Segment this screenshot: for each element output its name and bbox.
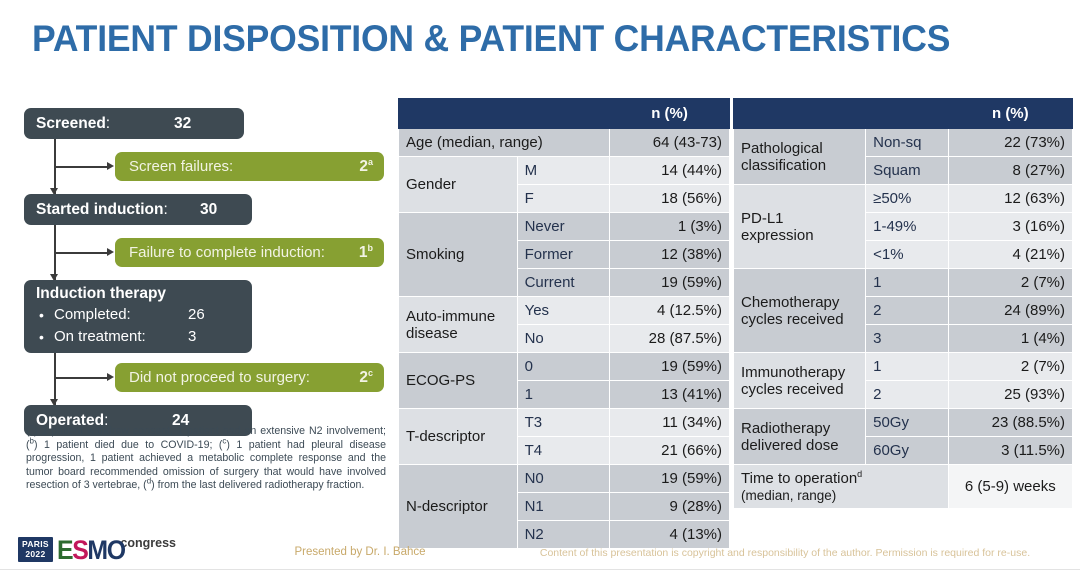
patient-characteristics-table-right: n (%) Pathological classificationNon-sq2…: [733, 98, 1073, 509]
flow-screen-failures-note: a: [368, 156, 373, 166]
row-value: 8 (27%): [948, 157, 1072, 185]
left-table-header-row: n (%): [399, 99, 730, 129]
row-subcategory: 1-49%: [866, 213, 949, 241]
row-value: 12 (63%): [948, 185, 1072, 213]
row-value: 4 (12.5%): [610, 297, 730, 325]
row-subcategory: Former: [517, 241, 609, 269]
row-subcategory: T4: [517, 437, 609, 465]
row-subcategory: N0: [517, 465, 609, 493]
row-category: PD-L1 expression: [734, 185, 866, 269]
row-value: 24 (89%): [948, 297, 1072, 325]
table-row: Chemotherapy cycles received12 (7%): [734, 269, 1073, 297]
row-category: Age (median, range): [399, 129, 610, 157]
flow-started-sep: :: [163, 201, 167, 218]
table-row: Time to operationd(median, range)6 (5-9)…: [734, 465, 1073, 509]
flow-induction-ontreatment-value: 3: [188, 326, 196, 348]
row-value: 25 (93%): [948, 381, 1072, 409]
logo-congress-text: congress: [120, 536, 176, 550]
flow-screened-label: Screened: [36, 115, 106, 132]
flow-failure-induction-label: Failure to complete induction:: [129, 244, 325, 261]
row-subcategory: 50Gy: [866, 409, 949, 437]
row-category: ECOG-PS: [399, 353, 518, 409]
row-subcategory: N1: [517, 493, 609, 521]
flow-screened-sep: :: [106, 115, 110, 132]
right-table-head: n (%): [734, 99, 1073, 129]
table-row: T-descriptorT311 (34%): [399, 409, 730, 437]
table-row: N-descriptorN019 (59%): [399, 465, 730, 493]
row-subcategory: Squam: [866, 157, 949, 185]
esmo-wordmark: ESMO: [57, 538, 125, 562]
row-value: 12 (38%): [610, 241, 730, 269]
esmo-letter-m: M: [87, 535, 106, 565]
row-value: 22 (73%): [948, 129, 1072, 157]
row-value: 19 (59%): [610, 353, 730, 381]
flow-screen-failures-label: Screen failures:: [129, 158, 233, 175]
table-row: Pathological classificationNon-sq22 (73%…: [734, 129, 1073, 157]
right-table-body: Pathological classificationNon-sq22 (73%…: [734, 129, 1073, 509]
row-subcategory: 2: [866, 297, 949, 325]
row-value: 64 (43-73): [610, 129, 730, 157]
table-row: GenderM14 (44%): [399, 157, 730, 185]
presented-by-text: Presented by Dr. I. Bahce: [215, 546, 505, 558]
flow-box-did-not-proceed: Did not proceed to surgery: 2c: [115, 363, 384, 392]
left-table-head: n (%): [399, 99, 730, 129]
row-value: 9 (28%): [610, 493, 730, 521]
connector-branch-3: [54, 377, 108, 379]
flow-not-surgery-label: Did not proceed to surgery:: [129, 369, 310, 386]
row-subcategory: 1: [517, 381, 609, 409]
esmo-letter-e: E: [57, 535, 72, 565]
right-table-header-row: n (%): [734, 99, 1073, 129]
flow-induction-completed-label: Completed:: [54, 306, 131, 323]
row-category: Pathological classification: [734, 129, 866, 185]
table-row: Age (median, range)64 (43-73): [399, 129, 730, 157]
row-subcategory: 2: [866, 381, 949, 409]
flow-failure-induction-note: b: [368, 242, 374, 252]
flow-box-failure-induction: Failure to complete induction: 1b: [115, 238, 384, 267]
left-header-blank: [399, 99, 610, 129]
row-subcategory: Non-sq: [866, 129, 949, 157]
row-value: 28 (87.5%): [610, 325, 730, 353]
row-subcategory: N2: [517, 521, 609, 549]
row-value: 2 (7%): [948, 269, 1072, 297]
row-subcategory: Current: [517, 269, 609, 297]
flow-screen-failures-value: 2: [359, 158, 368, 175]
left-header-npct: n (%): [610, 99, 730, 129]
flow-not-surgery-value: 2: [359, 369, 368, 386]
row-subcategory: Never: [517, 213, 609, 241]
footnotes-text: (a) 1 patient withdrew consent, 1 patien…: [26, 425, 386, 493]
flow-screened-value: 32: [174, 115, 191, 133]
row-value: 6 (5-9) weeks: [948, 465, 1072, 509]
flow-not-surgery-note: c: [368, 367, 373, 377]
connector-branch-1: [54, 166, 108, 168]
connector-branch-2: [54, 252, 108, 254]
logo-year: 2022: [22, 550, 49, 560]
row-category: Immunotherapy cycles received: [734, 353, 866, 409]
patient-characteristics-table-left: n (%) Age (median, range)64 (43-73)Gende…: [398, 98, 730, 549]
row-value: 4 (21%): [948, 241, 1072, 269]
row-value: 19 (59%): [610, 465, 730, 493]
connector-arrow-2: [107, 248, 114, 256]
footer-divider: [0, 569, 1080, 570]
flow-induction-completed-value: 26: [188, 304, 205, 326]
row-subcategory: No: [517, 325, 609, 353]
row-value: 3 (16%): [948, 213, 1072, 241]
row-category: Radiotherapy delivered dose: [734, 409, 866, 465]
row-value: 21 (66%): [610, 437, 730, 465]
row-subcategory: 3: [866, 325, 949, 353]
row-category: T-descriptor: [399, 409, 518, 465]
esmo-letter-o: O: [107, 535, 125, 565]
row-subcategory: Yes: [517, 297, 609, 325]
page-title: PATIENT DISPOSITION & PATIENT CHARACTERI…: [32, 18, 950, 60]
row-subcategory: <1%: [866, 241, 949, 269]
table-row: Auto-immune diseaseYes4 (12.5%): [399, 297, 730, 325]
patient-disposition-flowchart: Screened: 32 Screen failures: 2a Started…: [18, 108, 388, 418]
flow-box-induction-therapy: Induction therapy Completed: 26 On treat…: [24, 280, 252, 353]
row-value: 19 (59%): [610, 269, 730, 297]
row-value: 2 (7%): [948, 353, 1072, 381]
table-row: SmokingNever1 (3%): [399, 213, 730, 241]
row-value: 13 (41%): [610, 381, 730, 409]
row-category: Gender: [399, 157, 518, 213]
row-category: Time to operationd(median, range): [734, 465, 949, 509]
row-value: 3 (11.5%): [948, 437, 1072, 465]
flow-induction-ontreatment-label: On treatment:: [54, 328, 146, 345]
flow-box-screened: Screened: 32: [24, 108, 244, 139]
row-value: 14 (44%): [610, 157, 730, 185]
table-row: Immunotherapy cycles received12 (7%): [734, 353, 1073, 381]
flow-started-label: Started induction: [36, 201, 163, 218]
connector-arrow-3: [107, 373, 114, 381]
table-row: ECOG-PS019 (59%): [399, 353, 730, 381]
flow-box-started-induction: Started induction: 30: [24, 194, 252, 225]
flow-induction-item-completed: Completed: 26: [36, 304, 252, 326]
row-subcategory: M: [517, 157, 609, 185]
row-category: N-descriptor: [399, 465, 518, 549]
left-table-body: Age (median, range)64 (43-73)GenderM14 (…: [399, 129, 730, 549]
flow-induction-header: Induction therapy: [36, 285, 252, 303]
right-header-blank: [734, 99, 949, 129]
row-category: Auto-immune disease: [399, 297, 518, 353]
paris-2022-badge: PARIS 2022: [18, 537, 53, 562]
row-value: 11 (34%): [610, 409, 730, 437]
row-subcategory: ≥50%: [866, 185, 949, 213]
row-subcategory: F: [517, 185, 609, 213]
row-value: 18 (56%): [610, 185, 730, 213]
row-category: Smoking: [399, 213, 518, 297]
connector-arrow-1: [107, 162, 114, 170]
table-row: PD-L1 expression≥50%12 (63%): [734, 185, 1073, 213]
row-subcategory: 1: [866, 269, 949, 297]
flow-started-value: 30: [200, 201, 217, 219]
row-category: Chemotherapy cycles received: [734, 269, 866, 353]
esmo-letter-s: S: [72, 535, 87, 565]
row-value: 4 (13%): [610, 521, 730, 549]
flow-box-screen-failures: Screen failures: 2a: [115, 152, 384, 181]
flow-failure-induction-value: 1: [359, 244, 368, 261]
right-header-npct: n (%): [948, 99, 1072, 129]
flow-induction-item-ontreatment: On treatment: 3: [36, 326, 252, 348]
row-value: 23 (88.5%): [948, 409, 1072, 437]
esmo-congress-logo: PARIS 2022 ESMO congress: [18, 532, 176, 562]
table-row: Radiotherapy delivered dose50Gy23 (88.5%…: [734, 409, 1073, 437]
row-subcategory: 0: [517, 353, 609, 381]
slide: PATIENT DISPOSITION & PATIENT CHARACTERI…: [0, 0, 1080, 588]
row-subcategory: 60Gy: [866, 437, 949, 465]
row-subcategory: T3: [517, 409, 609, 437]
copyright-text: Content of this presentation is copyrigh…: [500, 547, 1070, 559]
row-value: 1 (3%): [610, 213, 730, 241]
row-value: 1 (4%): [948, 325, 1072, 353]
row-subcategory: 1: [866, 353, 949, 381]
